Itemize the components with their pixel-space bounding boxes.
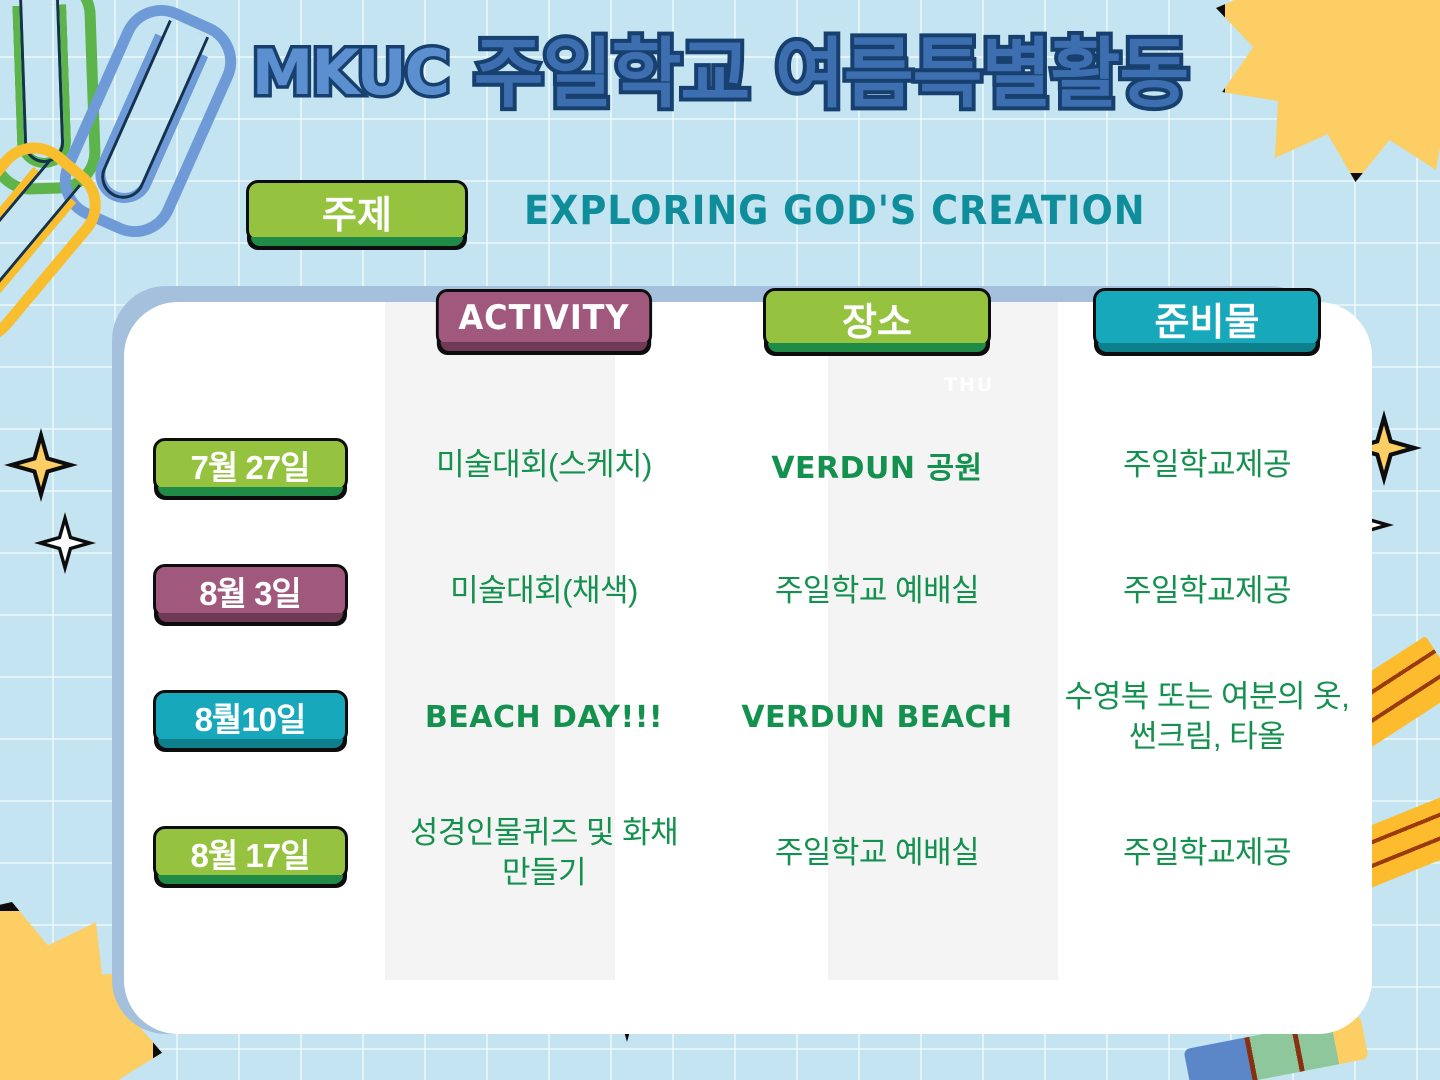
subject-row: 주제 EXPLORING GOD'S CREATION	[246, 180, 1199, 242]
header-cell-place: 장소	[712, 288, 1042, 348]
table-row: 7월 27일 미술대회(스케치) VERDUN 공원 주일학교제공	[124, 402, 1372, 528]
cell-date: 8뤌10일	[124, 690, 376, 744]
table-row: 8뤌10일 BEACH DAY!!! VERDUN BEACH 수영복 또는 여…	[124, 654, 1372, 780]
header-cell-prep: 준비물	[1042, 288, 1372, 348]
header-cell-activity: ACTIVITY	[376, 289, 712, 347]
cell-date: 7월 27일	[124, 438, 376, 492]
title-korean: 주일학교 여름특별활동	[474, 29, 1189, 118]
date-badge: 7월 27일	[153, 438, 348, 492]
cell-place: VERDUN BEACH	[712, 700, 1042, 735]
header-badge-activity: ACTIVITY	[436, 289, 652, 347]
date-badge: 8뤌10일	[153, 690, 348, 744]
cell-prep: 수영복 또는 여분의 옷, 썬크림, 타올	[1042, 677, 1372, 758]
table-header-row: ACTIVITY 장소 준비물	[124, 288, 1372, 348]
cell-date: 8월 17일	[124, 826, 376, 880]
date-badge: 8월 3일	[153, 564, 348, 618]
cell-place: 주일학교 예배실	[712, 571, 1042, 611]
subject-value: EXPLORING GOD'S CREATION	[524, 188, 1145, 234]
cell-place: 주일학교 예배실	[712, 833, 1042, 873]
title-mkuc: MKUC	[252, 36, 449, 109]
cell-date: 8월 3일	[124, 564, 376, 618]
date-badge: 8월 17일	[153, 826, 348, 880]
page-title: MKUC 주일학교 여름특별활동	[0, 36, 1440, 112]
cell-prep: 주일학교제공	[1042, 445, 1372, 485]
cell-place: VERDUN 공원	[712, 443, 1042, 487]
schedule-table: ACTIVITY 장소 준비물 7월 27일 미술대회(스케치) VERDUN …	[124, 302, 1372, 1034]
cell-activity: 성경인물퀴즈 및 화채만들기	[376, 813, 712, 894]
cell-activity: 미술대회(스케치)	[376, 445, 712, 485]
table-row: 8월 17일 성경인물퀴즈 및 화채만들기 주일학교 예배실 주일학교제공	[124, 780, 1372, 926]
subject-label-badge: 주제	[246, 180, 468, 242]
cell-prep: 주일학교제공	[1042, 833, 1372, 873]
cell-prep: 주일학교제공	[1042, 571, 1372, 611]
header-badge-prep: 준비물	[1093, 288, 1321, 348]
cell-activity: BEACH DAY!!!	[376, 700, 712, 735]
cell-activity: 미술대회(채색)	[376, 571, 712, 611]
header-badge-place: 장소	[763, 288, 991, 348]
table-row: 8월 3일 미술대회(채색) 주일학교 예배실 주일학교제공	[124, 528, 1372, 654]
